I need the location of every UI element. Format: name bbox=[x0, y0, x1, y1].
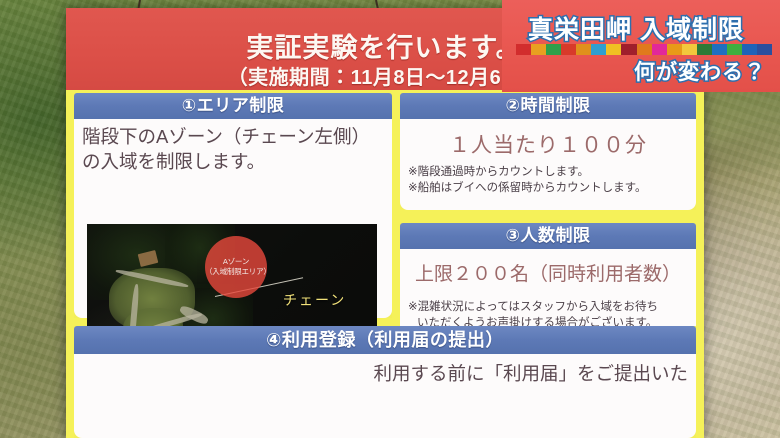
panel-usage-registration-header: ④利用登録（利用届の提出） bbox=[74, 326, 696, 354]
zone-a-label-line2: （入域制限エリア） bbox=[205, 267, 267, 277]
time-note-2: ※船舶はブイへの係留時からカウントします。 bbox=[408, 181, 689, 197]
panel-area-restriction-body: 階段下のAゾーン（チェーン左側）の入域を制限します。 bbox=[74, 119, 392, 318]
overlay-color-block-5 bbox=[591, 44, 606, 55]
overlay-subtitle: 何が変わる？ bbox=[634, 56, 766, 86]
overlay-color-block-14 bbox=[727, 44, 742, 55]
panel-area-restriction-header: ①エリア制限 bbox=[74, 93, 392, 119]
overlay-color-block-3 bbox=[561, 44, 576, 55]
capacity-limit-value: 上限２００名（同時利用者数） bbox=[400, 249, 696, 286]
panel-area-restriction: ①エリア制限 階段下のAゾーン（チェーン左側）の入域を制限します。 bbox=[74, 93, 392, 318]
overlay-color-block-12 bbox=[697, 44, 712, 55]
overlay-color-block-11 bbox=[682, 44, 697, 55]
usage-registration-text: 利用する前に「利用届」をご提出いた bbox=[74, 354, 696, 388]
zone-a-label-line1: Aゾーン bbox=[205, 257, 267, 267]
overlay-color-block-6 bbox=[606, 44, 621, 55]
overlay-color-block-0 bbox=[516, 44, 531, 55]
overlay-color-block-8 bbox=[637, 44, 652, 55]
overlay-title: 真栄田岬 入域制限 bbox=[502, 10, 770, 46]
panel-time-restriction-body: １人当たり１００分 ※階段通過時からカウントします。 ※船舶はブイへの係留時から… bbox=[400, 119, 696, 210]
panel-capacity-restriction-header: ③人数制限 bbox=[400, 223, 696, 249]
panel-time-restriction-header: ②時間制限 bbox=[400, 93, 696, 119]
overlay-color-block-2 bbox=[546, 44, 561, 55]
broadcast-overlay: 真栄田岬 入域制限 何が変わる？ bbox=[502, 0, 780, 92]
overlay-color-block-4 bbox=[576, 44, 591, 55]
overlay-color-block-9 bbox=[652, 44, 667, 55]
time-note-1: ※階段通過時からカウントします。 bbox=[408, 165, 689, 181]
overlay-color-block-13 bbox=[712, 44, 727, 55]
overlay-color-block-16 bbox=[757, 44, 772, 55]
chain-label: チェーン bbox=[283, 290, 346, 310]
overlay-color-block-7 bbox=[621, 44, 636, 55]
overlay-color-block-1 bbox=[531, 44, 546, 55]
overlay-color-block-15 bbox=[742, 44, 757, 55]
overlay-color-block-10 bbox=[667, 44, 682, 55]
area-restriction-text: 階段下のAゾーン（チェーン左側）の入域を制限します。 bbox=[74, 119, 392, 176]
panel-time-restriction: ②時間制限 １人当たり１００分 ※階段通過時からカウントします。 ※船舶はブイへ… bbox=[400, 93, 696, 210]
overlay-color-blocks bbox=[516, 44, 772, 55]
zone-a-marker: Aゾーン （入域制限エリア） bbox=[205, 236, 267, 298]
time-restriction-notes: ※階段通過時からカウントします。 ※船舶はブイへの係留時からカウントします。 bbox=[400, 159, 696, 200]
panel-usage-registration: ④利用登録（利用届の提出） 利用する前に「利用届」をご提出いた bbox=[74, 326, 696, 438]
capacity-note-1: ※混雑状況によってはスタッフから入域をお待ち bbox=[408, 300, 689, 316]
time-limit-value: １人当たり１００分 bbox=[400, 119, 696, 159]
panel-usage-registration-body: 利用する前に「利用届」をご提出いた bbox=[74, 354, 696, 438]
screenshot-root: 実証実験を行います。 （実施期間：11月8日〜12月6日） ①エリア制限 階段下… bbox=[0, 0, 780, 438]
